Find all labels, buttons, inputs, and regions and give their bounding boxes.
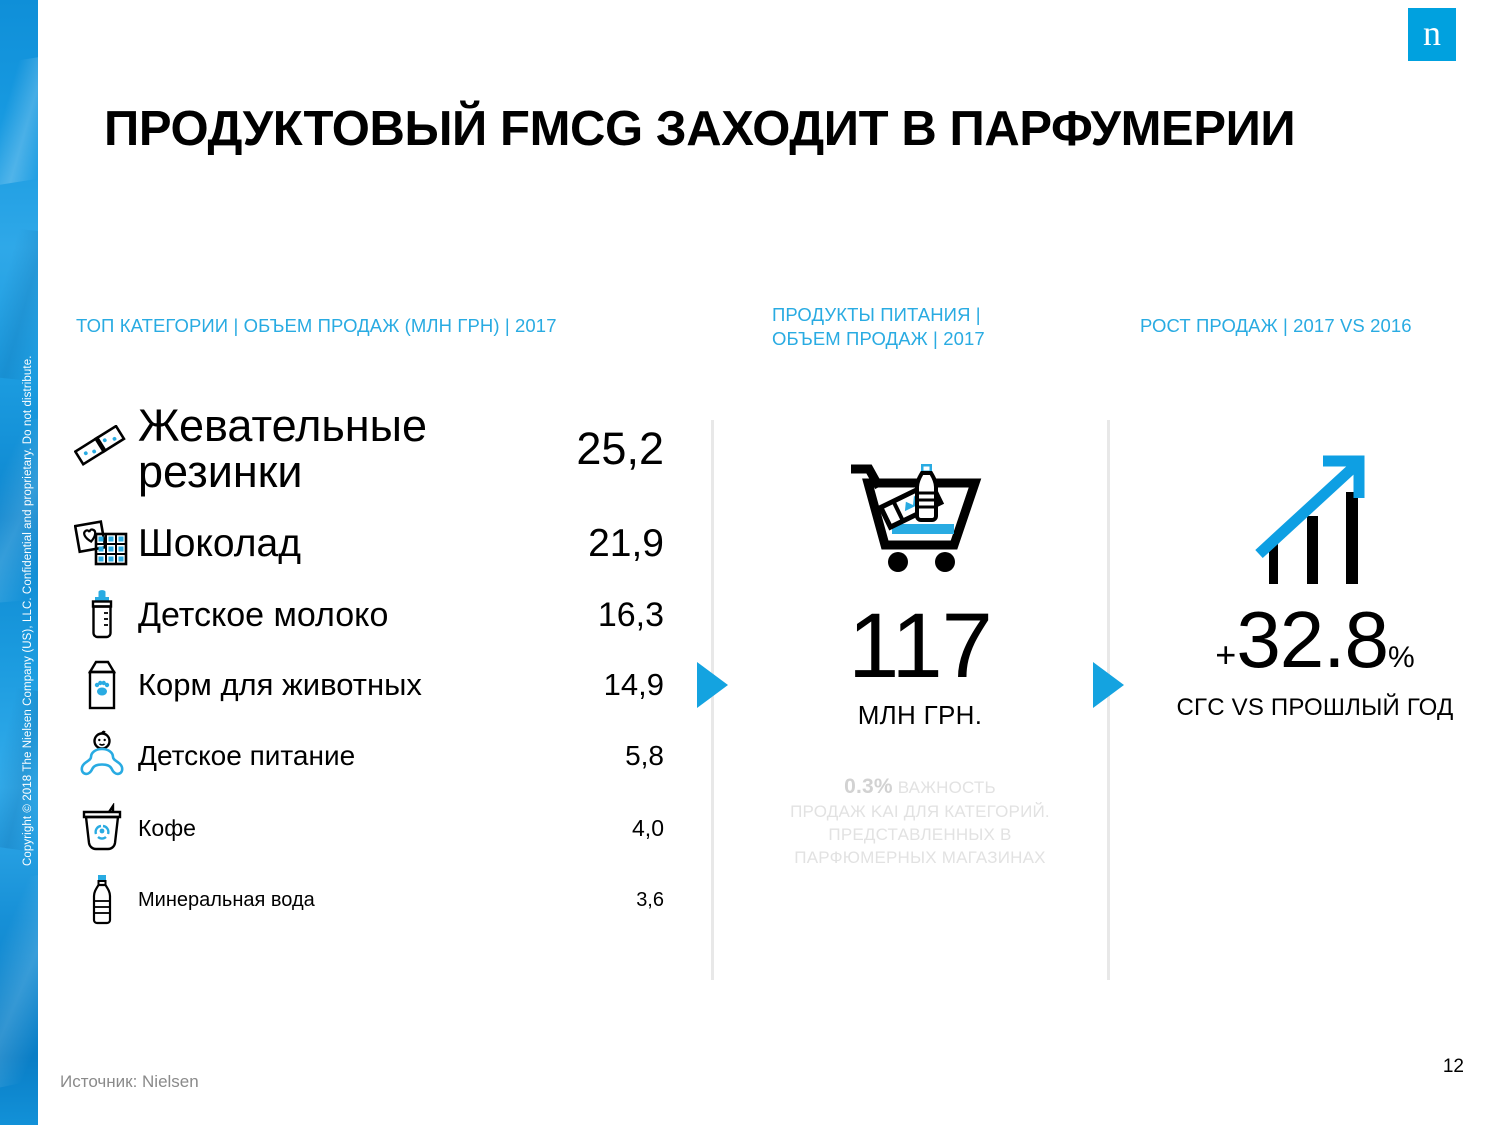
list-item: Кофе 4,0 bbox=[66, 792, 686, 864]
growth-value-line: + 32.8 % bbox=[1130, 600, 1500, 680]
left-column-header: ТОП КАТЕГОРИИ | ОБЪЕМ ПРОДАЖ (МЛН ГРН) |… bbox=[76, 314, 557, 338]
middle-note-line4: ПАРФЮМЕРНЫХ МАГАЗИНАХ bbox=[740, 847, 1100, 870]
band-swirl bbox=[0, 871, 38, 1089]
water-bottle-icon bbox=[66, 873, 138, 927]
baby-bottle-icon bbox=[66, 589, 138, 641]
list-item-label: Минеральная вода bbox=[138, 889, 534, 912]
nielsen-logo-letter: n bbox=[1423, 15, 1441, 51]
list-item-label: Детское питание bbox=[138, 740, 534, 772]
chewing-gum-icon bbox=[66, 425, 138, 473]
list-item-value: 21,9 bbox=[534, 522, 686, 566]
source-note: Источник: Nielsen bbox=[60, 1072, 199, 1092]
list-item-label: Детское молоко bbox=[138, 596, 534, 635]
middle-note: 0.3% ВАЖНОСТЬ ПРОДАЖ KAI ДЛЯ КАТЕГОРИЙ. … bbox=[740, 773, 1100, 870]
middle-note-line3: ПРЕДСТАВЛЕННЫХ В bbox=[740, 824, 1100, 847]
growth-arrow-chart-icon bbox=[1130, 430, 1500, 600]
list-item-value: 4,0 bbox=[534, 815, 686, 842]
list-item-label: Шоколад bbox=[138, 522, 534, 566]
list-item: Детское молоко 16,3 bbox=[66, 580, 686, 650]
shopping-cart-icon bbox=[740, 430, 1100, 600]
list-item-value: 5,8 bbox=[534, 740, 686, 772]
list-item-value: 16,3 bbox=[534, 596, 686, 635]
list-item: Минеральная вода 3,6 bbox=[66, 864, 686, 936]
nielsen-logo: n bbox=[1408, 8, 1456, 61]
middle-unit: МЛН ГРН. bbox=[740, 700, 1100, 731]
list-item-value: 14,9 bbox=[534, 667, 686, 703]
list-item-label: Корм для животных bbox=[138, 667, 534, 703]
arrow-triangle-icon bbox=[697, 662, 728, 708]
slide: Copyright © 2018 The Nielsen Company (US… bbox=[0, 0, 1500, 1125]
growth-caption: CГC VS ПРОШЛЫЙ ГОД bbox=[1130, 694, 1500, 722]
middle-value: 117 bbox=[740, 600, 1100, 692]
list-item: Корм для животных 14,9 bbox=[66, 650, 686, 720]
list-item-value: 3,6 bbox=[534, 889, 686, 912]
list-item-label: Жевательные резинки bbox=[138, 403, 534, 496]
middle-note-line2: ПРОДАЖ KAI ДЛЯ КАТЕГОРИЙ. bbox=[740, 801, 1100, 824]
middle-note-line1: 0.3% ВАЖНОСТЬ bbox=[740, 773, 1100, 801]
middle-column-header-line1: ПРОДУКТЫ ПИТАНИЯ | bbox=[772, 303, 1062, 327]
top-categories-list: Жевательные резинки 25,2 bbox=[66, 390, 686, 936]
coffee-cup-icon bbox=[66, 803, 138, 853]
right-panel: + 32.8 % CГC VS ПРОШЛЫЙ ГОД bbox=[1130, 430, 1500, 722]
page-title: ПРОДУКТОВЫЙ FMCG ЗАХОДИТ В ПАРФУМЕРИИ bbox=[104, 104, 1464, 155]
chocolate-bar-icon bbox=[66, 518, 138, 570]
list-item: Шоколад 21,9 bbox=[66, 508, 686, 580]
pet-food-carton-icon bbox=[66, 658, 138, 712]
right-column-header: РОСТ ПРОДАЖ | 2017 VS 2016 bbox=[1140, 314, 1480, 338]
list-item-value: 25,2 bbox=[534, 426, 686, 472]
middle-note-line1-text: ВАЖНОСТЬ bbox=[893, 778, 996, 797]
middle-panel: 117 МЛН ГРН. 0.3% ВАЖНОСТЬ ПРОДАЖ KAI ДЛ… bbox=[740, 430, 1100, 870]
growth-percent-symbol: % bbox=[1388, 643, 1415, 673]
middle-column-header: ПРОДУКТЫ ПИТАНИЯ | ОБЪЕМ ПРОДАЖ | 2017 bbox=[772, 303, 1062, 350]
list-item: Детское питание 5,8 bbox=[66, 720, 686, 792]
baby-icon bbox=[66, 730, 138, 782]
middle-column-header-line2: ОБЪЕМ ПРОДАЖ | 2017 bbox=[772, 327, 1062, 351]
page-number: 12 bbox=[1443, 1056, 1464, 1078]
list-item: Жевательные резинки 25,2 bbox=[66, 390, 686, 508]
copyright-notice: Copyright © 2018 The Nielsen Company (US… bbox=[22, 106, 34, 866]
middle-note-highlight: 0.3% bbox=[844, 775, 893, 798]
list-item-label: Кофе bbox=[138, 815, 534, 842]
growth-value: 32.8 bbox=[1236, 600, 1388, 680]
growth-sign: + bbox=[1215, 637, 1236, 673]
